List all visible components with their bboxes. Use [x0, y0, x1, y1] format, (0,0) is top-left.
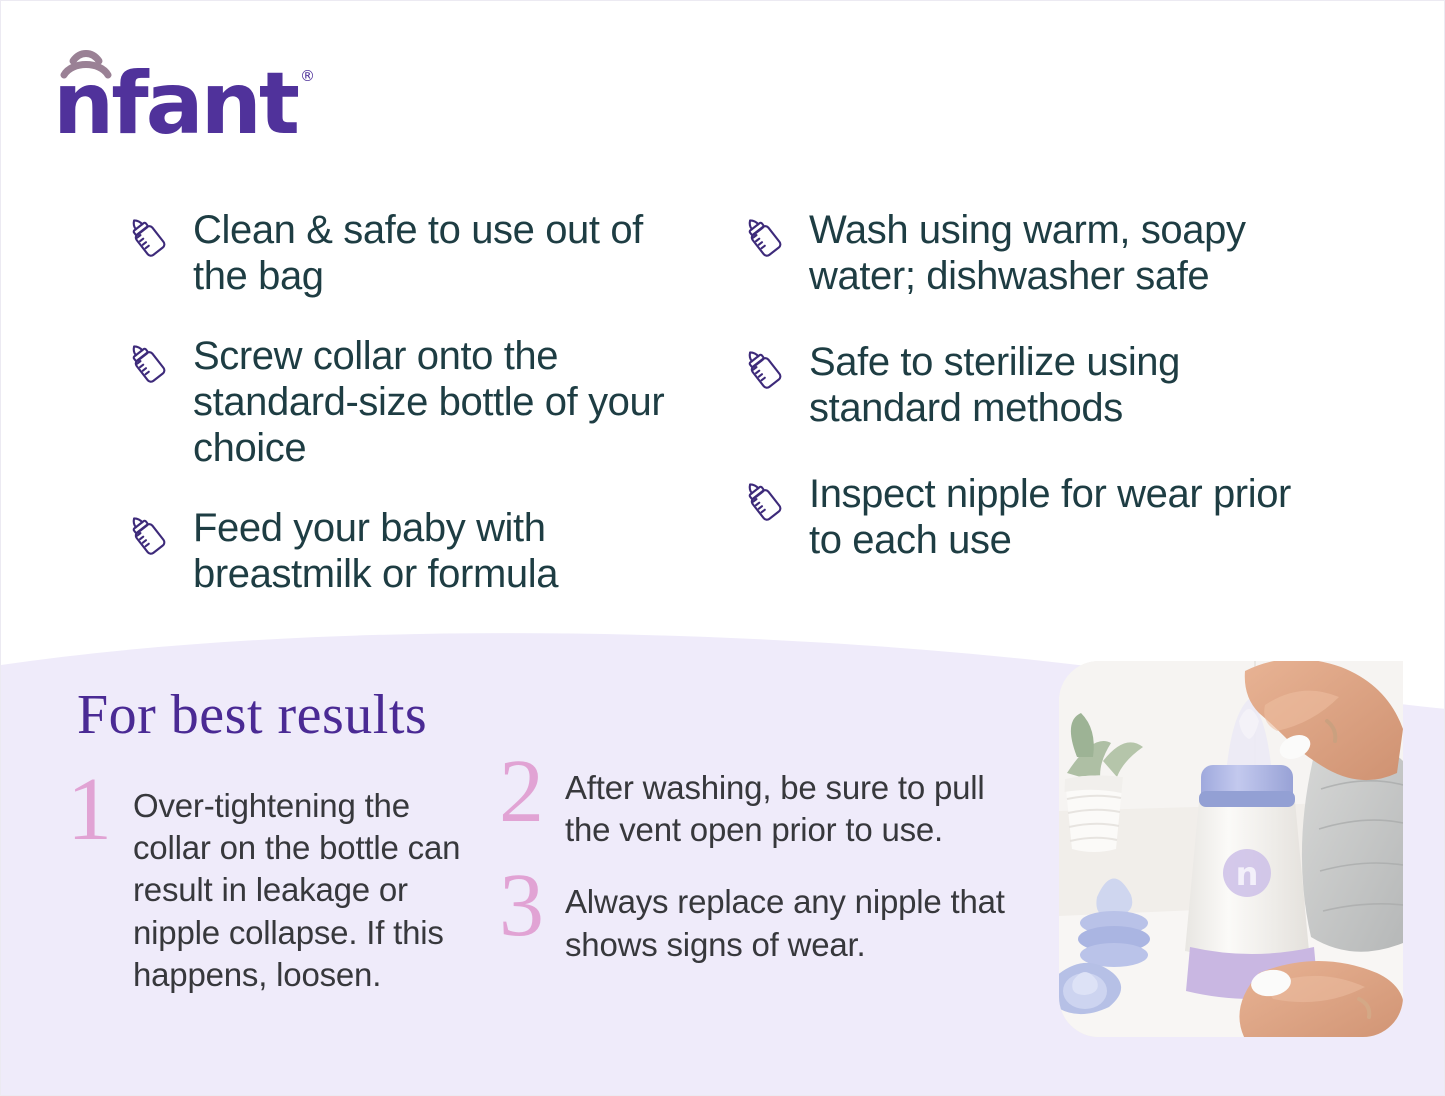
bottle-logo-letter: n — [1236, 855, 1259, 893]
tip-number: 3 — [499, 869, 565, 943]
list-item: Feed your baby with breastmilk or formul… — [123, 505, 687, 597]
feature-column-left: Clean & safe to use out of the bag Screw… — [1, 207, 701, 631]
list-item-label: Safe to sterilize using standard methods — [809, 339, 1329, 431]
list-item: Screw collar onto the standard-size bott… — [123, 333, 687, 471]
baby-bottle-icon — [123, 511, 171, 559]
list-item-label: Wash using warm, soapy water; dishwasher… — [809, 207, 1329, 299]
product-instruction-sheet: nfant ® Clean & safe to use out of the b… — [0, 0, 1445, 1096]
brand-logo: nfant ® — [53, 45, 373, 155]
baby-bottle-icon — [739, 477, 787, 525]
list-item-label: Screw collar onto the standard-size bott… — [193, 333, 687, 471]
list-item-label: Clean & safe to use out of the bag — [193, 207, 687, 299]
brand-wordmark: nfant — [53, 61, 297, 147]
baby-bottle-icon — [123, 213, 171, 261]
feature-column-right: Wash using warm, soapy water; dishwasher… — [701, 207, 1401, 631]
tip-number: 1 — [67, 773, 133, 847]
list-item-label: Inspect nipple for wear prior to each us… — [809, 471, 1329, 563]
tip-text: Always replace any nipple that shows sig… — [565, 875, 1035, 965]
feature-list: Clean & safe to use out of the bag Screw… — [1, 207, 1445, 631]
section-heading: For best results — [77, 687, 427, 743]
baby-bottle-icon — [123, 339, 171, 387]
tips-column-right: 2 After washing, be sure to pull the ven… — [499, 761, 1059, 990]
baby-bottle-icon — [739, 213, 787, 261]
tip-3: 3 Always replace any nipple that shows s… — [499, 875, 1059, 965]
product-photo-illustration: n — [1059, 661, 1403, 1037]
registered-trademark-symbol: ® — [300, 67, 315, 85]
tip-number: 2 — [499, 755, 565, 829]
tip-text: After washing, be sure to pull the vent … — [565, 761, 1035, 851]
list-item: Safe to sterilize using standard methods — [739, 339, 1391, 431]
baby-bottle-icon — [739, 345, 787, 393]
tip-1: 1 Over-tightening the collar on the bott… — [67, 779, 487, 996]
list-item-label: Feed your baby with breastmilk or formul… — [193, 505, 687, 597]
list-item: Wash using warm, soapy water; dishwasher… — [739, 207, 1391, 299]
tip-text: Over-tightening the collar on the bottle… — [133, 779, 478, 996]
product-photo: n — [1059, 661, 1403, 1037]
list-item: Clean & safe to use out of the bag — [123, 207, 687, 299]
list-item: Inspect nipple for wear prior to each us… — [739, 471, 1391, 563]
tip-2: 2 After washing, be sure to pull the ven… — [499, 761, 1059, 851]
